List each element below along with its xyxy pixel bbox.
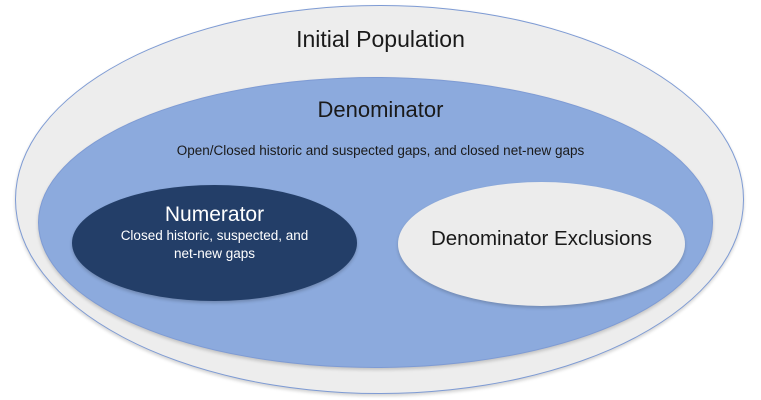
- numerator-description-line-1: Closed historic, suspected, and: [72, 227, 357, 245]
- venn-diagram-canvas: Initial Population Denominator Open/Clos…: [0, 0, 761, 400]
- denominator-description-label: Open/Closed historic and suspected gaps,…: [0, 143, 761, 159]
- numerator-text-group: Numerator Closed historic, suspected, an…: [72, 203, 357, 263]
- initial-population-label: Initial Population: [0, 26, 761, 53]
- numerator-label: Numerator: [72, 203, 357, 227]
- numerator-description-line-2: net-new gaps: [72, 245, 357, 263]
- denominator-label: Denominator: [0, 97, 761, 123]
- denominator-exclusions-label: Denominator Exclusions: [398, 227, 685, 251]
